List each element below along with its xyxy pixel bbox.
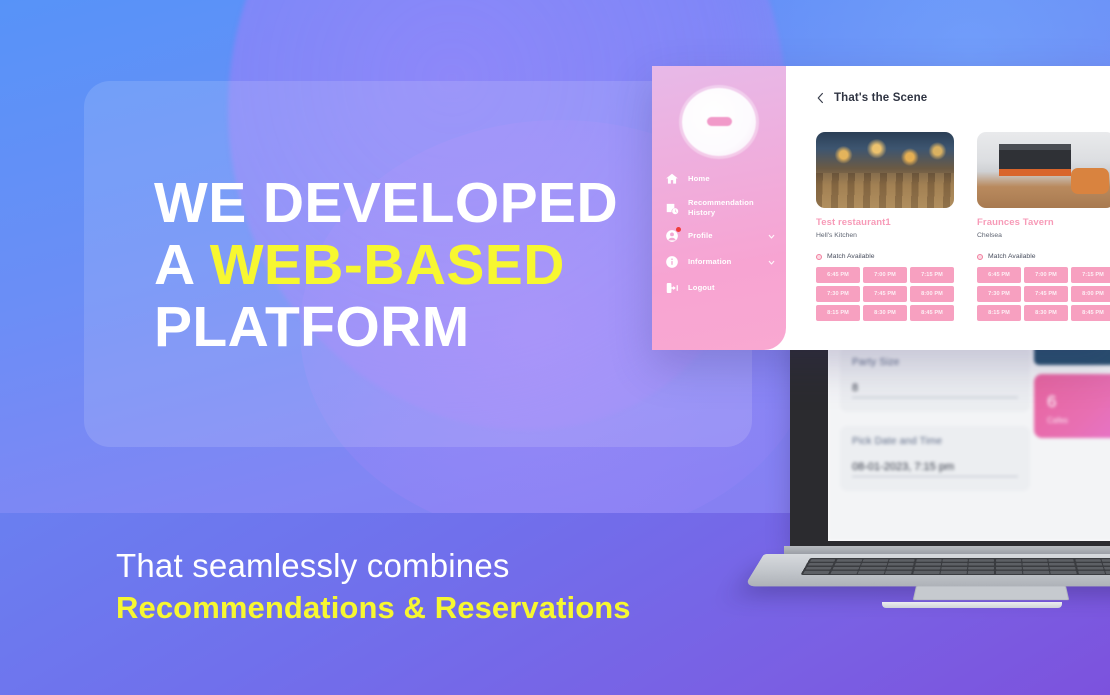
subtitle-line-1: That seamlessly combines	[116, 545, 776, 587]
key-row	[803, 571, 1110, 574]
date-time-label: Pick Date and Time	[852, 436, 1018, 447]
history-icon	[665, 201, 679, 215]
app-content-header: That's the Scene	[816, 92, 1110, 104]
restaurant-card[interactable]: Fraunces Tavern Chelsea Match Available …	[977, 132, 1110, 321]
time-slot[interactable]: 7:45 PM	[1024, 286, 1068, 302]
sidebar-item-label: Profile	[688, 231, 758, 241]
time-slot[interactable]: 7:00 PM	[863, 267, 907, 283]
party-size-label: Party Size	[852, 357, 1018, 368]
time-slot[interactable]: 7:00 PM	[1024, 267, 1068, 283]
date-time-value: 08-01-2023, 7:15 pm	[852, 461, 1018, 477]
app-main-content: That's the Scene Test restaurant1 Hell's…	[786, 66, 1110, 350]
logout-icon	[665, 281, 679, 295]
time-slot[interactable]: 8:45 PM	[1071, 305, 1110, 321]
sidebar-menu: Home Recommendation History Profile	[652, 166, 786, 301]
time-slot[interactable]: 8:00 PM	[910, 286, 954, 302]
time-slot[interactable]: 8:45 PM	[910, 305, 954, 321]
headline-line-2: A WEB-BASED	[154, 234, 714, 296]
sidebar-item-profile[interactable]: Profile	[652, 223, 786, 249]
key-row	[809, 559, 1110, 562]
stat-card-caption: Cafes	[1047, 416, 1068, 425]
app-logo-avatar[interactable]	[682, 88, 756, 156]
page-subtitle: That seamlessly combines Recommendations…	[116, 545, 776, 629]
headline-line-3: PLATFORM	[154, 296, 714, 358]
laptop-front-lip	[882, 602, 1062, 608]
restaurant-card[interactable]: Test restaurant1 Hell's Kitchen Match Av…	[816, 132, 954, 321]
time-slot[interactable]: 8:30 PM	[1024, 305, 1068, 321]
stats-column: 6 Cafes ☕	[1034, 343, 1110, 438]
time-slot[interactable]: 8:15 PM	[977, 305, 1021, 321]
laptop-trackpad	[913, 586, 1069, 600]
laptop-lid: Party Size 8 Pick Date and Time 08-01-20…	[790, 330, 1110, 548]
restaurant-neighborhood: Hell's Kitchen	[816, 232, 954, 239]
laptop-screen: Party Size 8 Pick Date and Time 08-01-20…	[828, 337, 1110, 541]
match-status: Match Available	[977, 253, 1110, 260]
laptop-keyboard	[801, 558, 1110, 575]
app-sidebar: Home Recommendation History Profile	[652, 66, 786, 350]
time-slot[interactable]: 7:30 PM	[977, 286, 1021, 302]
match-dot-icon	[977, 254, 983, 260]
sidebar-item-recommendation-history[interactable]: Recommendation History	[652, 192, 786, 223]
key-row	[807, 563, 1110, 566]
app-page-title: That's the Scene	[834, 92, 927, 104]
headline-highlight: WEB-BASED	[210, 233, 565, 297]
restaurant-photo	[816, 132, 954, 208]
match-status-label: Match Available	[988, 253, 1035, 260]
page-title: WE DEVELOPED A WEB-BASED PLATFORM	[154, 172, 714, 358]
time-slot[interactable]: 7:45 PM	[863, 286, 907, 302]
match-status-label: Match Available	[827, 253, 874, 260]
match-status: Match Available	[816, 253, 954, 260]
home-icon	[665, 172, 679, 186]
key-row	[805, 567, 1110, 570]
party-size-value: 8	[852, 382, 1018, 398]
time-slot-grid: 6:45 PM 7:00 PM 7:15 PM 7:30 PM 7:45 PM …	[816, 267, 954, 321]
profile-icon	[665, 229, 679, 243]
notification-badge	[676, 227, 681, 232]
sidebar-item-logout[interactable]: Logout	[652, 275, 786, 301]
chevron-down-icon[interactable]	[767, 258, 776, 267]
party-size-field[interactable]: Party Size 8	[840, 347, 1030, 412]
sidebar-item-label: Logout	[688, 283, 776, 293]
sidebar-item-label: Information	[688, 257, 758, 267]
reservation-form: Party Size 8 Pick Date and Time 08-01-20…	[840, 347, 1030, 505]
laptop-screen-content: Party Size 8 Pick Date and Time 08-01-20…	[828, 337, 1110, 541]
sidebar-item-label: Home	[688, 174, 776, 184]
restaurant-neighborhood: Chelsea	[977, 232, 1110, 239]
stat-card-cafes[interactable]: 6 Cafes ☕	[1034, 374, 1110, 438]
headline-line-2-prefix: A	[154, 233, 210, 297]
restaurant-photo	[977, 132, 1110, 208]
sidebar-item-home[interactable]: Home	[652, 166, 786, 192]
restaurant-name: Test restaurant1	[816, 217, 954, 228]
laptop-mockup: Party Size 8 Pick Date and Time 08-01-20…	[764, 330, 1110, 630]
sidebar-item-label: Recommendation History	[688, 198, 776, 217]
stat-card-number: 6	[1047, 392, 1056, 412]
restaurant-name: Fraunces Tavern	[977, 217, 1110, 228]
app-window: Home Recommendation History Profile	[652, 66, 1110, 350]
time-slot-grid: 6:45 PM 7:00 PM 7:15 PM 7:30 PM 7:45 PM …	[977, 267, 1110, 321]
subtitle-line-2: Recommendations & Reservations	[116, 587, 776, 629]
time-slot[interactable]: 7:15 PM	[910, 267, 954, 283]
time-slot[interactable]: 6:45 PM	[816, 267, 860, 283]
time-slot[interactable]: 8:30 PM	[863, 305, 907, 321]
info-icon	[665, 255, 679, 269]
sidebar-item-information[interactable]: Information	[652, 249, 786, 275]
headline-line-1: WE DEVELOPED	[154, 172, 714, 234]
time-slot[interactable]: 8:15 PM	[816, 305, 860, 321]
time-slot[interactable]: 8:00 PM	[1071, 286, 1110, 302]
time-slot[interactable]: 6:45 PM	[977, 267, 1021, 283]
time-slot[interactable]: 7:15 PM	[1071, 267, 1110, 283]
chevron-down-icon[interactable]	[767, 232, 776, 241]
chevron-left-icon[interactable]	[816, 92, 825, 104]
match-dot-icon	[816, 254, 822, 260]
time-slot[interactable]: 7:30 PM	[816, 286, 860, 302]
restaurant-card-list: Test restaurant1 Hell's Kitchen Match Av…	[816, 132, 1110, 321]
date-time-field[interactable]: Pick Date and Time 08-01-2023, 7:15 pm	[840, 426, 1030, 491]
